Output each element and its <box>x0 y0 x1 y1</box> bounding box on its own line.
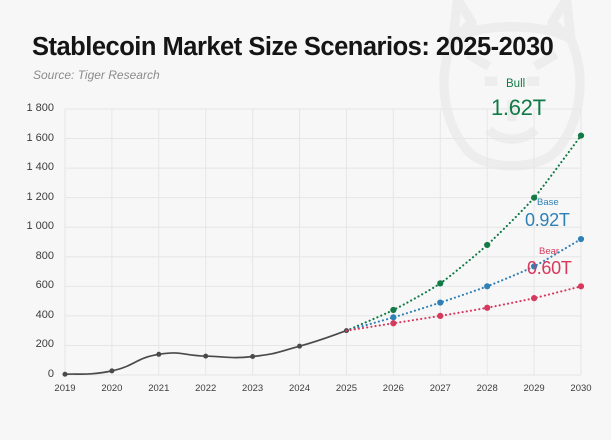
x-tick-label: 2019 <box>42 383 88 394</box>
annotation-name-bear: Bear <box>539 246 559 257</box>
annotation-value-bear: 0.60T <box>527 258 572 279</box>
series-bull <box>346 133 584 331</box>
x-tick-label: 2024 <box>277 383 323 394</box>
x-tick-label: 2029 <box>511 383 557 394</box>
y-tick-label: 1 600 <box>8 132 54 144</box>
chart-svg <box>0 0 611 440</box>
y-tick-label: 800 <box>8 250 54 262</box>
x-tick-label: 2025 <box>323 383 369 394</box>
annotation-name-bull: Bull <box>506 78 525 90</box>
x-tick-label: 2022 <box>183 383 229 394</box>
series-bear <box>346 283 584 330</box>
chart-root: Stablecoin Market Size Scenarios: 2025-2… <box>0 0 611 440</box>
x-tick-label: 2020 <box>89 383 135 394</box>
annotation-value-base: 0.92T <box>525 210 570 231</box>
y-tick-label: 1 800 <box>8 102 54 114</box>
y-tick-label: 1 200 <box>8 191 54 203</box>
y-tick-label: 600 <box>8 279 54 291</box>
annotation-value-bull: 1.62T <box>491 95 546 121</box>
x-tick-label: 2028 <box>464 383 510 394</box>
y-tick-label: 1 000 <box>8 220 54 232</box>
y-tick-label: 0 <box>8 368 54 380</box>
x-tick-label: 2030 <box>558 383 604 394</box>
y-tick-label: 1 400 <box>8 161 54 173</box>
gridlines <box>65 109 581 375</box>
x-tick-label: 2026 <box>370 383 416 394</box>
plot-area: 02004006008001 0001 2001 4001 6001 800 2… <box>0 0 611 440</box>
x-tick-label: 2023 <box>230 383 276 394</box>
annotation-name-base: Base <box>537 197 559 208</box>
x-tick-label: 2021 <box>136 383 182 394</box>
y-tick-label: 400 <box>8 309 54 321</box>
y-tick-label: 200 <box>8 338 54 350</box>
x-tick-label: 2027 <box>417 383 463 394</box>
